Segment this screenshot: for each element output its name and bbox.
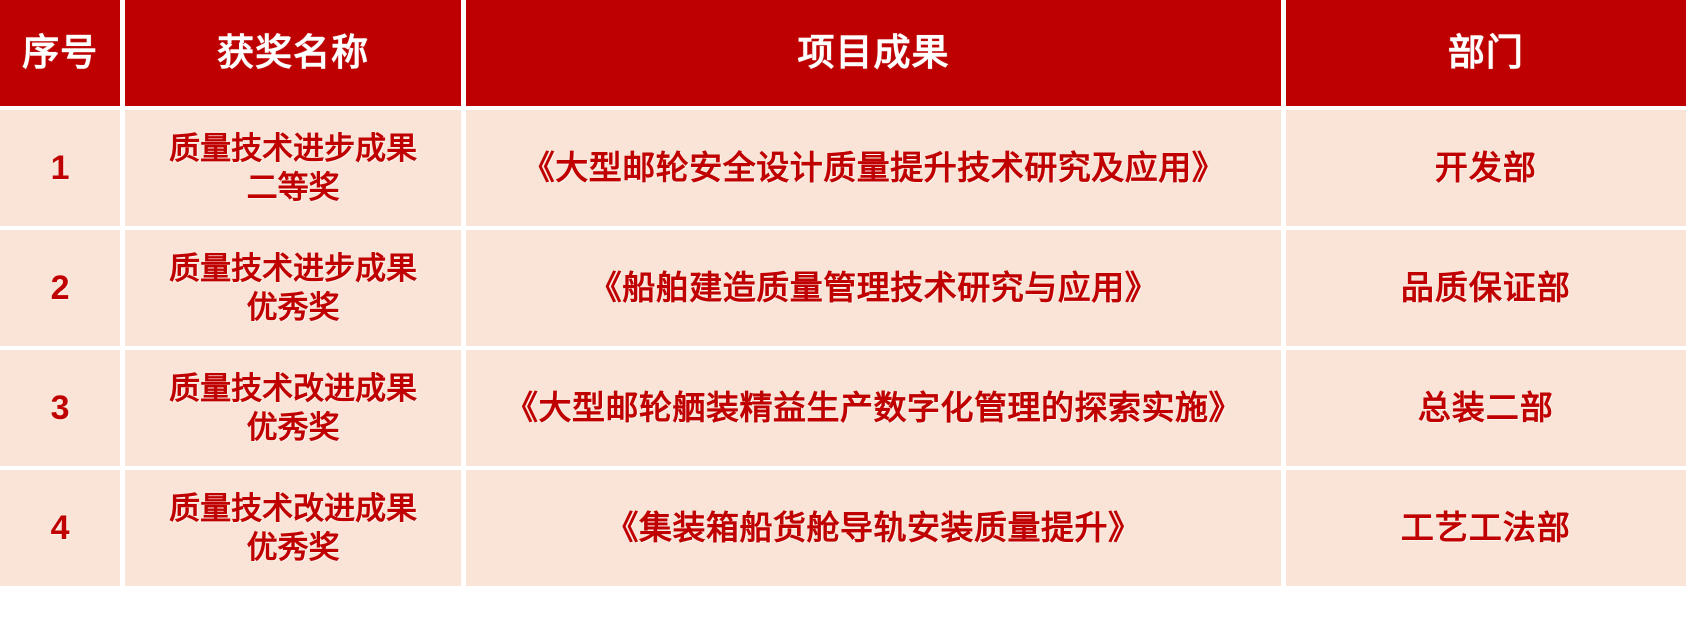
cell-department: 总装二部 [1286, 350, 1686, 466]
award-name-line-1: 质量技术进步成果 [133, 249, 453, 288]
column-header-dept: 部门 [1286, 0, 1686, 106]
cell-award-name: 质量技术进步成果 二等奖 [125, 110, 461, 226]
cell-department: 开发部 [1286, 110, 1686, 226]
cell-sequence-number: 3 [0, 350, 120, 466]
award-name-line-2: 优秀奖 [133, 288, 453, 327]
award-name-line-1: 质量技术进步成果 [133, 129, 453, 168]
award-name-line-2: 优秀奖 [133, 408, 453, 447]
table-row: 3 质量技术改进成果 优秀奖 《大型邮轮舾装精益生产数字化管理的探索实施》 总装… [0, 350, 1686, 466]
cell-sequence-number: 4 [0, 470, 120, 586]
header-row: 序号 获奖名称 项目成果 部门 [0, 0, 1686, 106]
award-name-line-1: 质量技术改进成果 [133, 369, 453, 408]
award-results-table: 序号 获奖名称 项目成果 部门 1 质量技术进步成果 二等奖 《大型邮轮安全设计… [0, 0, 1691, 590]
award-name-line-1: 质量技术改进成果 [133, 489, 453, 528]
cell-award-name: 质量技术改进成果 优秀奖 [125, 470, 461, 586]
cell-award-name: 质量技术进步成果 优秀奖 [125, 230, 461, 346]
table-row: 2 质量技术进步成果 优秀奖 《船舶建造质量管理技术研究与应用》 品质保证部 [0, 230, 1686, 346]
award-name-line-2: 优秀奖 [133, 528, 453, 567]
table-row: 4 质量技术改进成果 优秀奖 《集装箱船货舱导轨安装质量提升》 工艺工法部 [0, 470, 1686, 586]
cell-project-result: 《大型邮轮安全设计质量提升技术研究及应用》 [466, 110, 1281, 226]
table-header: 序号 获奖名称 项目成果 部门 [0, 0, 1686, 106]
cell-sequence-number: 1 [0, 110, 120, 226]
cell-department: 品质保证部 [1286, 230, 1686, 346]
cell-award-name: 质量技术改进成果 优秀奖 [125, 350, 461, 466]
cell-project-result: 《大型邮轮舾装精益生产数字化管理的探索实施》 [466, 350, 1281, 466]
column-header-proj: 项目成果 [466, 0, 1281, 106]
cell-project-result: 《船舶建造质量管理技术研究与应用》 [466, 230, 1281, 346]
table-body: 1 质量技术进步成果 二等奖 《大型邮轮安全设计质量提升技术研究及应用》 开发部… [0, 110, 1686, 586]
column-header-no: 序号 [0, 0, 120, 106]
cell-project-result: 《集装箱船货舱导轨安装质量提升》 [466, 470, 1281, 586]
cell-sequence-number: 2 [0, 230, 120, 346]
column-header-award: 获奖名称 [125, 0, 461, 106]
award-name-line-2: 二等奖 [133, 168, 453, 207]
table-row: 1 质量技术进步成果 二等奖 《大型邮轮安全设计质量提升技术研究及应用》 开发部 [0, 110, 1686, 226]
cell-department: 工艺工法部 [1286, 470, 1686, 586]
